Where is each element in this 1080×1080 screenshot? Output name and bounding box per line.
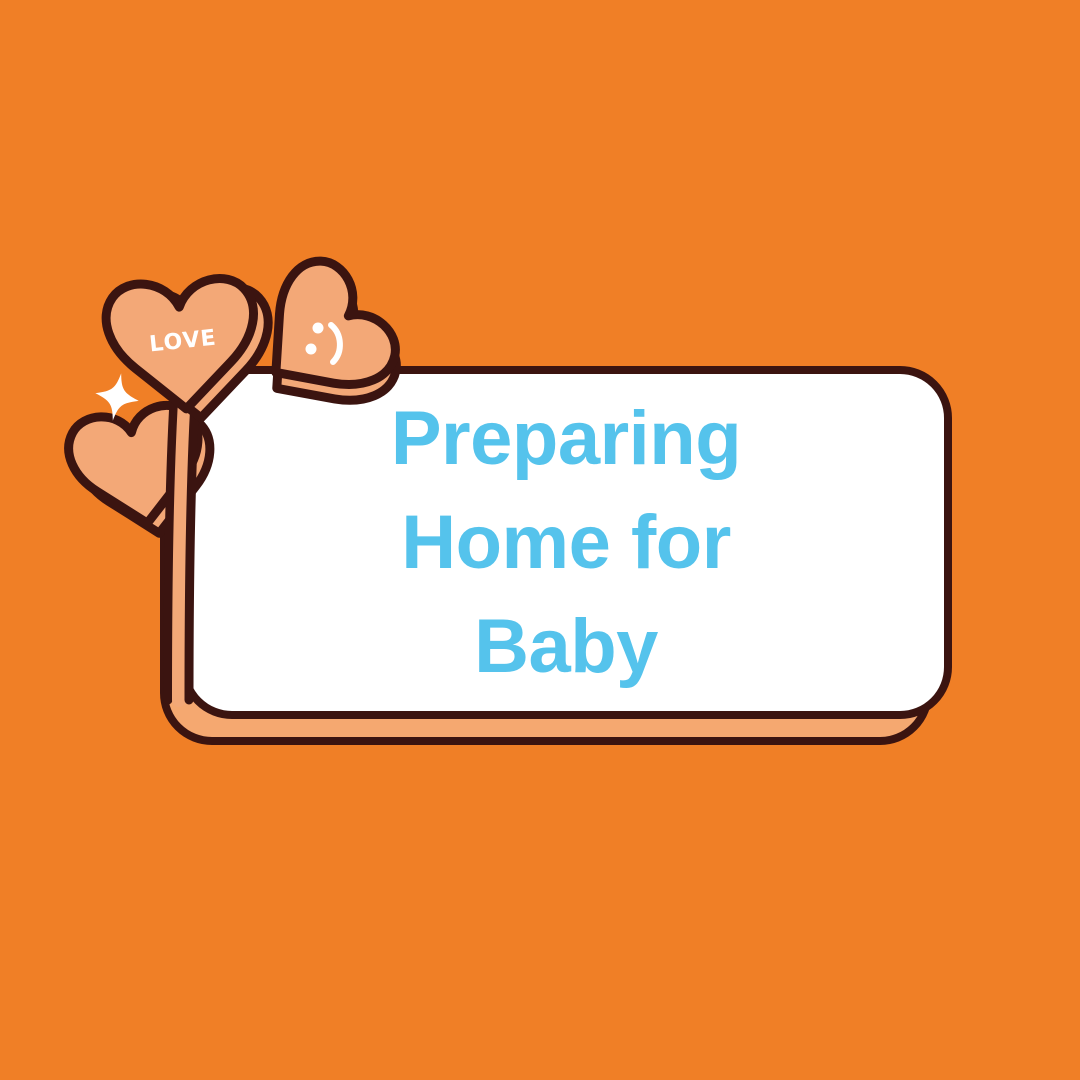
title-line-1: Preparing xyxy=(391,387,741,491)
title-line-2: Home for xyxy=(401,491,731,595)
title-line-3: Baby xyxy=(474,595,658,699)
title-block: Preparing Home for Baby xyxy=(180,366,952,719)
poster-canvas: Preparing Home for Baby xyxy=(0,0,1080,1080)
